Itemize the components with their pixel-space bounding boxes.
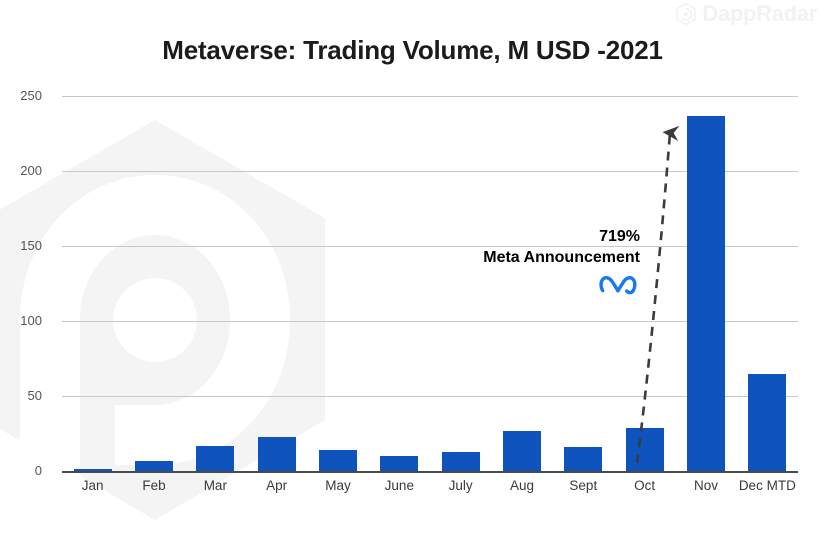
bar-feb[interactable] (135, 461, 173, 472)
chart-container: DappRadar Metaverse: Trading Volume, M U… (0, 0, 825, 535)
bar-apr[interactable] (258, 437, 296, 472)
y-axis-tick-label: 100 (20, 313, 42, 328)
x-axis-tick-label: Oct (614, 478, 675, 493)
bar-dec-mtd[interactable] (748, 374, 786, 472)
bar-june[interactable] (380, 456, 418, 471)
x-axis-tick-label: Mar (185, 478, 246, 493)
bar-july[interactable] (442, 452, 480, 472)
x-axis-tick-label: Nov (675, 478, 736, 493)
x-axis-tick-label: May (307, 478, 368, 493)
y-axis-tick-label: 50 (28, 388, 42, 403)
chart-title: Metaverse: Trading Volume, M USD -2021 (0, 35, 825, 66)
y-axis-tick-label: 200 (20, 163, 42, 178)
x-axis-tick-label: June (369, 478, 430, 493)
annotation-label: Meta Announcement (400, 249, 640, 267)
bar-sept[interactable] (564, 447, 602, 471)
x-axis-tick-label: Sept (553, 478, 614, 493)
meta-infinity-logo-icon (597, 270, 639, 300)
y-axis-tick-label: 250 (20, 88, 42, 103)
bar-aug[interactable] (503, 431, 541, 472)
x-axis-tick-label: July (430, 478, 491, 493)
x-axis-tick-label: Aug (491, 478, 552, 493)
x-axis-line (62, 471, 798, 473)
bar-nov[interactable] (687, 116, 725, 472)
x-axis-tick-label: Feb (123, 478, 184, 493)
y-axis-tick-label: 0 (35, 463, 42, 478)
x-axis-tick-label: Jan (62, 478, 123, 493)
gridline (62, 96, 798, 97)
annotation-percent: 719% (460, 228, 640, 246)
y-axis-tick-label: 150 (20, 238, 42, 253)
x-axis-tick-label: Dec MTD (737, 478, 798, 493)
x-axis-tick-label: Apr (246, 478, 307, 493)
bar-mar[interactable] (196, 446, 234, 472)
bar-oct[interactable] (626, 428, 664, 472)
bar-may[interactable] (319, 450, 357, 471)
